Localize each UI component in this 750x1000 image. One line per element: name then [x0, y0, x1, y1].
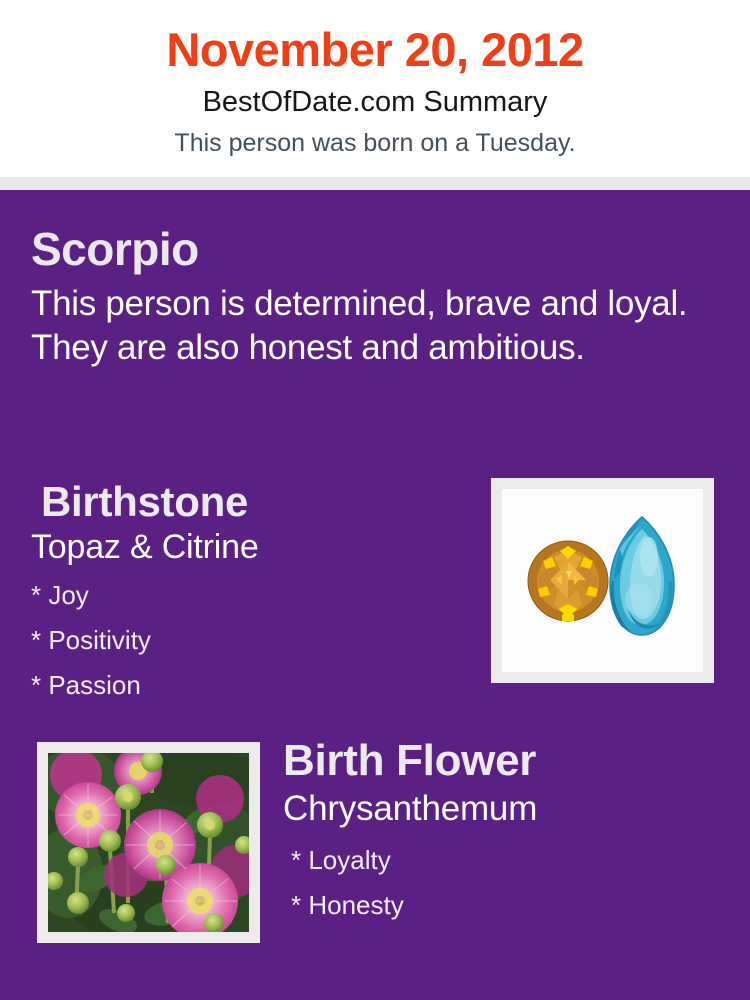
birthstone-heading: Birthstone: [31, 478, 471, 526]
list-item: * Positivity: [31, 618, 471, 663]
birth-flower-photo-frame: [37, 742, 260, 943]
zodiac-description: This person is determined, brave and loy…: [31, 282, 701, 370]
site-name-subtitle: BestOfDate.com Summary: [0, 85, 750, 119]
birthstone-section: Birthstone Topaz & Citrine * Joy * Posit…: [31, 478, 471, 708]
birthstone-photo: [502, 489, 703, 672]
page-title-date: November 20, 2012: [0, 22, 750, 78]
zodiac-section: Scorpio This person is determined, brave…: [31, 222, 721, 370]
birth-flower-name: Chrysanthemum: [283, 788, 723, 830]
birth-flower-heading: Birth Flower: [283, 735, 723, 787]
birth-flower-trait-list: * Loyalty * Honesty: [283, 838, 723, 928]
weekday-note: This person was born on a Tuesday.: [0, 128, 750, 158]
citrine-gem: [528, 541, 608, 621]
birthstone-trait-list: * Joy * Positivity * Passion: [31, 573, 471, 708]
birth-flower-section: Birth Flower Chrysanthemum * Loyalty * H…: [283, 735, 723, 928]
chrysanthemum-illustration: [48, 753, 249, 932]
birthstone-name: Topaz & Citrine: [31, 527, 471, 567]
list-item: * Loyalty: [283, 838, 723, 883]
list-item: * Joy: [31, 573, 471, 618]
card-header: November 20, 2012 BestOfDate.com Summary…: [0, 0, 750, 177]
list-item: * Passion: [31, 663, 471, 708]
birthstone-photo-frame: [491, 478, 714, 683]
birth-flower-photo: [48, 753, 249, 932]
list-item: * Honesty: [283, 883, 723, 928]
gemstones-illustration: [502, 489, 703, 672]
summary-card: November 20, 2012 BestOfDate.com Summary…: [0, 0, 750, 1000]
header-divider: [0, 177, 750, 190]
zodiac-sign-heading: Scorpio: [31, 222, 721, 276]
